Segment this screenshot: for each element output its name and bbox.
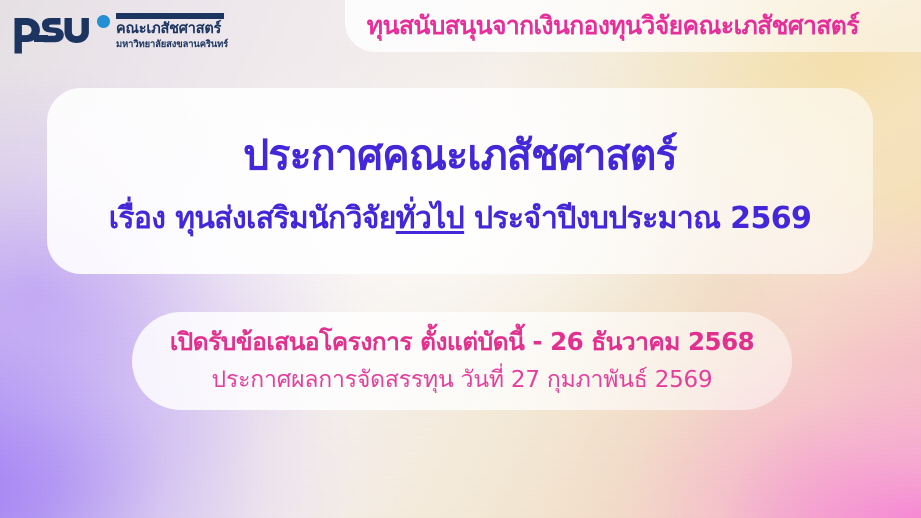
dates-panel: เปิดรับข้อเสนอโครงการ ตั้งแต่บัดนี้ - 26… [132,312,792,410]
logo-rule-divider [116,13,224,19]
subtitle-part-pre: เรื่อง ทุนส่งเสริมนักวิจัย [109,201,396,236]
header-banner-text: ทุนสนับสนุนจากเงินกองทุนวิจัยคณะเภสัชศาส… [345,6,859,46]
submission-period-text: เปิดรับข้อเสนอโครงการ ตั้งแต่บัดนี้ - 26… [170,330,754,355]
announcement-poster: คณะเภสัชศาสตร์ มหาวิทยาลัยสงขลานครินทร์ … [0,0,921,518]
page-title: ประกาศคณะเภสัชศาสตร์ [243,135,677,176]
psu-logo-lockup: คณะเภสัชศาสตร์ มหาวิทยาลัยสงขลานครินทร์ [12,11,228,55]
header-banner: ทุนสนับสนุนจากเงินกองทุนวิจัยคณะเภสัชศาส… [345,0,921,52]
logo-text-group: คณะเภสัชศาสตร์ มหาวิทยาลัยสงขลานครินทร์ [116,11,228,50]
psu-logo-monogram-icon [12,11,94,55]
blue-dot-icon [97,15,110,28]
subtitle-part-post: ประจำปีงบประมาณ 2569 [464,201,811,236]
result-announcement-text: ประกาศผลการจัดสรรทุน วันที่ 27 กุมภาพันธ… [212,369,713,392]
logo-university-name: มหาวิทยาลัยสงขลานครินทร์ [116,39,228,50]
announcement-subtitle: เรื่อง ทุนส่งเสริมนักวิจัยทั่วไป ประจำปี… [109,204,812,234]
logo-faculty-name: คณะเภสัชศาสตร์ [116,22,228,38]
subtitle-part-underlined: ทั่วไป [396,201,464,236]
announcement-card: ประกาศคณะเภสัชศาสตร์ เรื่อง ทุนส่งเสริมน… [47,88,873,274]
